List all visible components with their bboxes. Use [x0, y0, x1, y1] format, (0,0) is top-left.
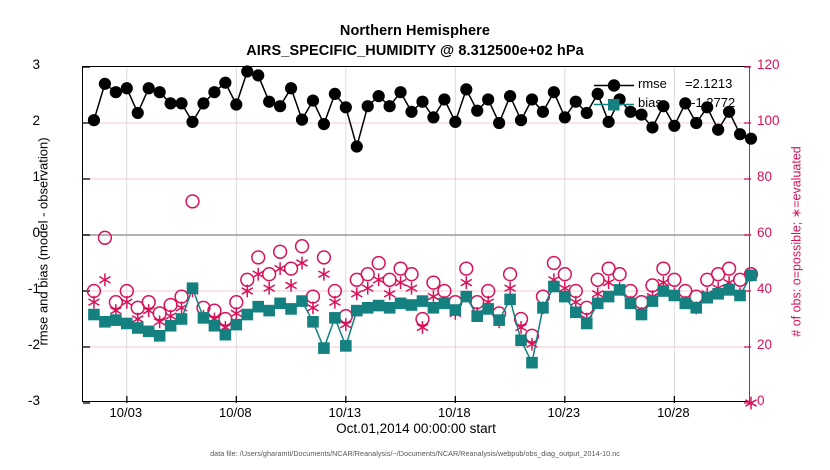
- x-tick-1: 10/08: [200, 405, 270, 420]
- data-file-caption: data file: /Users/gharamti/Documents/NCA…: [0, 449, 830, 458]
- series-bias: [88, 270, 757, 369]
- y-tick-right-6: 0: [757, 393, 801, 408]
- legend-label-bias: bias =-1.2772: [638, 95, 735, 110]
- chart-title: Northern Hemisphere AIRS_SPECIFIC_HUMIDI…: [0, 22, 830, 61]
- series-possible: [88, 195, 758, 342]
- legend-marker-rmse: [592, 76, 636, 95]
- plot-svg: [83, 67, 751, 403]
- plot-area: [82, 66, 750, 402]
- y-tick-left-4: -1: [0, 281, 40, 296]
- x-tick-0: 10/03: [91, 405, 161, 420]
- x-tick-4: 10/23: [529, 405, 599, 420]
- legend-label-rmse: rmse =2.1213: [638, 76, 732, 91]
- y-tick-left-2: 1: [0, 169, 40, 184]
- y-tick-left-5: -2: [0, 337, 40, 352]
- y-tick-right-4: 40: [757, 281, 801, 296]
- y-tick-right-3: 60: [757, 225, 801, 240]
- y-tick-left-6: -3: [0, 393, 40, 408]
- x-tick-5: 10/28: [638, 405, 708, 420]
- y-tick-right-2: 80: [757, 169, 801, 184]
- title-line-2: AIRS_SPECIFIC_HUMIDITY @ 8.312500e+02 hP…: [0, 41, 830, 61]
- legend-marker-bias: [592, 95, 636, 114]
- y-tick-right-0: 120: [757, 57, 801, 72]
- chart-canvas: Northern Hemisphere AIRS_SPECIFIC_HUMIDI…: [0, 0, 830, 470]
- legend: rmse =2.1213 bias =-1.2772: [592, 76, 772, 114]
- x-tick-3: 10/18: [419, 405, 489, 420]
- y-tick-right-1: 100: [757, 113, 801, 128]
- y-tick-left-1: 2: [0, 113, 40, 128]
- y-tick-right-5: 20: [757, 337, 801, 352]
- title-line-1: Northern Hemisphere: [0, 22, 830, 41]
- x-axis-label: Oct.01,2014 00:00:00 start: [82, 421, 750, 436]
- y-tick-left-0: 3: [0, 57, 40, 72]
- legend-row-bias: bias =-1.2772: [592, 95, 772, 114]
- legend-row-rmse: rmse =2.1213: [592, 76, 772, 95]
- y-tick-left-3: 0: [0, 225, 40, 240]
- x-tick-2: 10/13: [310, 405, 380, 420]
